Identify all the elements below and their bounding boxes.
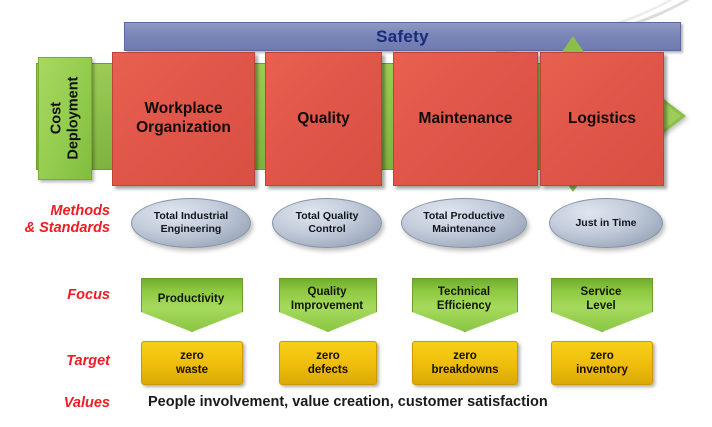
method-line2: Engineering: [153, 223, 230, 235]
target-box-zero-defects: zero defects: [279, 341, 377, 385]
method-line2: Control: [300, 223, 353, 235]
pillar-label: Quality: [293, 110, 354, 129]
cost-deployment-box: Cost Deployment: [38, 57, 92, 180]
row-label-text: Focus: [0, 287, 110, 304]
target-label: zero inventory: [576, 349, 628, 377]
target-line1: zero: [180, 350, 204, 362]
method-label: Total Quality Control: [280, 210, 375, 236]
row-label-focus: Focus: [0, 287, 110, 304]
cost-deployment-line2: Deployment: [65, 77, 82, 160]
safety-bar: Safety: [124, 22, 681, 51]
target-line2: breakdowns: [431, 364, 498, 376]
target-line2: waste: [176, 364, 208, 376]
wcm-pillar-diagram: Safety Cost Deployment Workplace Organiz…: [0, 0, 712, 427]
row-label-methods-standards: Methods & Standards: [0, 203, 110, 237]
arrow-nub-top-icon: [562, 36, 584, 52]
target-label: zero defects: [308, 349, 348, 377]
values-statement: People involvement, value creation, cust…: [148, 394, 548, 410]
row-label-text: Values: [0, 395, 110, 412]
focus-label-technical-efficiency: Technical Efficiency: [412, 283, 516, 317]
target-box-zero-inventory: zero inventory: [551, 341, 653, 385]
focus-line1: Productivity: [158, 293, 224, 305]
target-box-zero-waste: zero waste: [141, 341, 243, 385]
row-label-line1: Methods: [0, 203, 110, 220]
pillar-quality: Quality: [265, 52, 382, 186]
safety-label: Safety: [376, 27, 429, 47]
focus-label-productivity: Productivity: [141, 283, 241, 317]
pillar-label: Maintenance: [415, 110, 517, 129]
target-line1: zero: [316, 350, 340, 362]
focus-line1: Quality: [308, 286, 347, 298]
row-label-target: Target: [0, 353, 110, 370]
method-ellipse-just-in-time: Just in Time: [549, 198, 663, 248]
pillar-label: Workplace Organization: [128, 100, 239, 137]
pillar-maintenance: Maintenance: [393, 52, 538, 186]
method-line1: Total Productive: [415, 210, 512, 222]
method-ellipse-total-industrial-engineering: Total Industrial Engineering: [131, 198, 251, 248]
pillar-logistics: Logistics: [540, 52, 664, 186]
pillar-workplace-organization: Workplace Organization: [112, 52, 255, 186]
focus-line2: Efficiency: [437, 300, 491, 312]
focus-line2: Improvement: [291, 300, 363, 312]
target-label: zero waste: [176, 349, 208, 377]
method-ellipse-total-productive-maintenance: Total Productive Maintenance: [401, 198, 527, 248]
cost-deployment-line1: Cost: [48, 77, 65, 160]
target-line1: zero: [453, 350, 477, 362]
target-line1: zero: [590, 350, 614, 362]
row-label-line2: & Standards: [0, 220, 110, 237]
target-label: zero breakdowns: [431, 349, 498, 377]
row-label-values: Values: [0, 395, 110, 412]
focus-line2: Level: [586, 300, 615, 312]
focus-label-service-level: Service Level: [551, 283, 651, 317]
method-line2: Maintenance: [424, 223, 504, 235]
method-line1: Total Industrial: [146, 210, 236, 222]
method-line1: Total Quality: [288, 210, 367, 222]
pillar-line1: Workplace: [140, 100, 226, 117]
focus-line1: Technical: [438, 286, 490, 298]
target-box-zero-breakdowns: zero breakdowns: [412, 341, 518, 385]
method-label: Total Productive Maintenance: [407, 210, 520, 236]
pillar-line2: Organization: [132, 119, 235, 136]
focus-line1: Service: [581, 286, 622, 298]
pillar-label: Logistics: [564, 110, 640, 129]
method-label: Total Industrial Engineering: [138, 210, 244, 236]
method-ellipse-total-quality-control: Total Quality Control: [272, 198, 382, 248]
row-label-text: Target: [0, 353, 110, 370]
cost-deployment-label: Cost Deployment: [48, 77, 82, 160]
focus-label-quality-improvement: Quality Improvement: [279, 283, 375, 317]
method-label: Just in Time: [567, 217, 644, 230]
target-line2: inventory: [576, 364, 628, 376]
target-line2: defects: [308, 364, 348, 376]
